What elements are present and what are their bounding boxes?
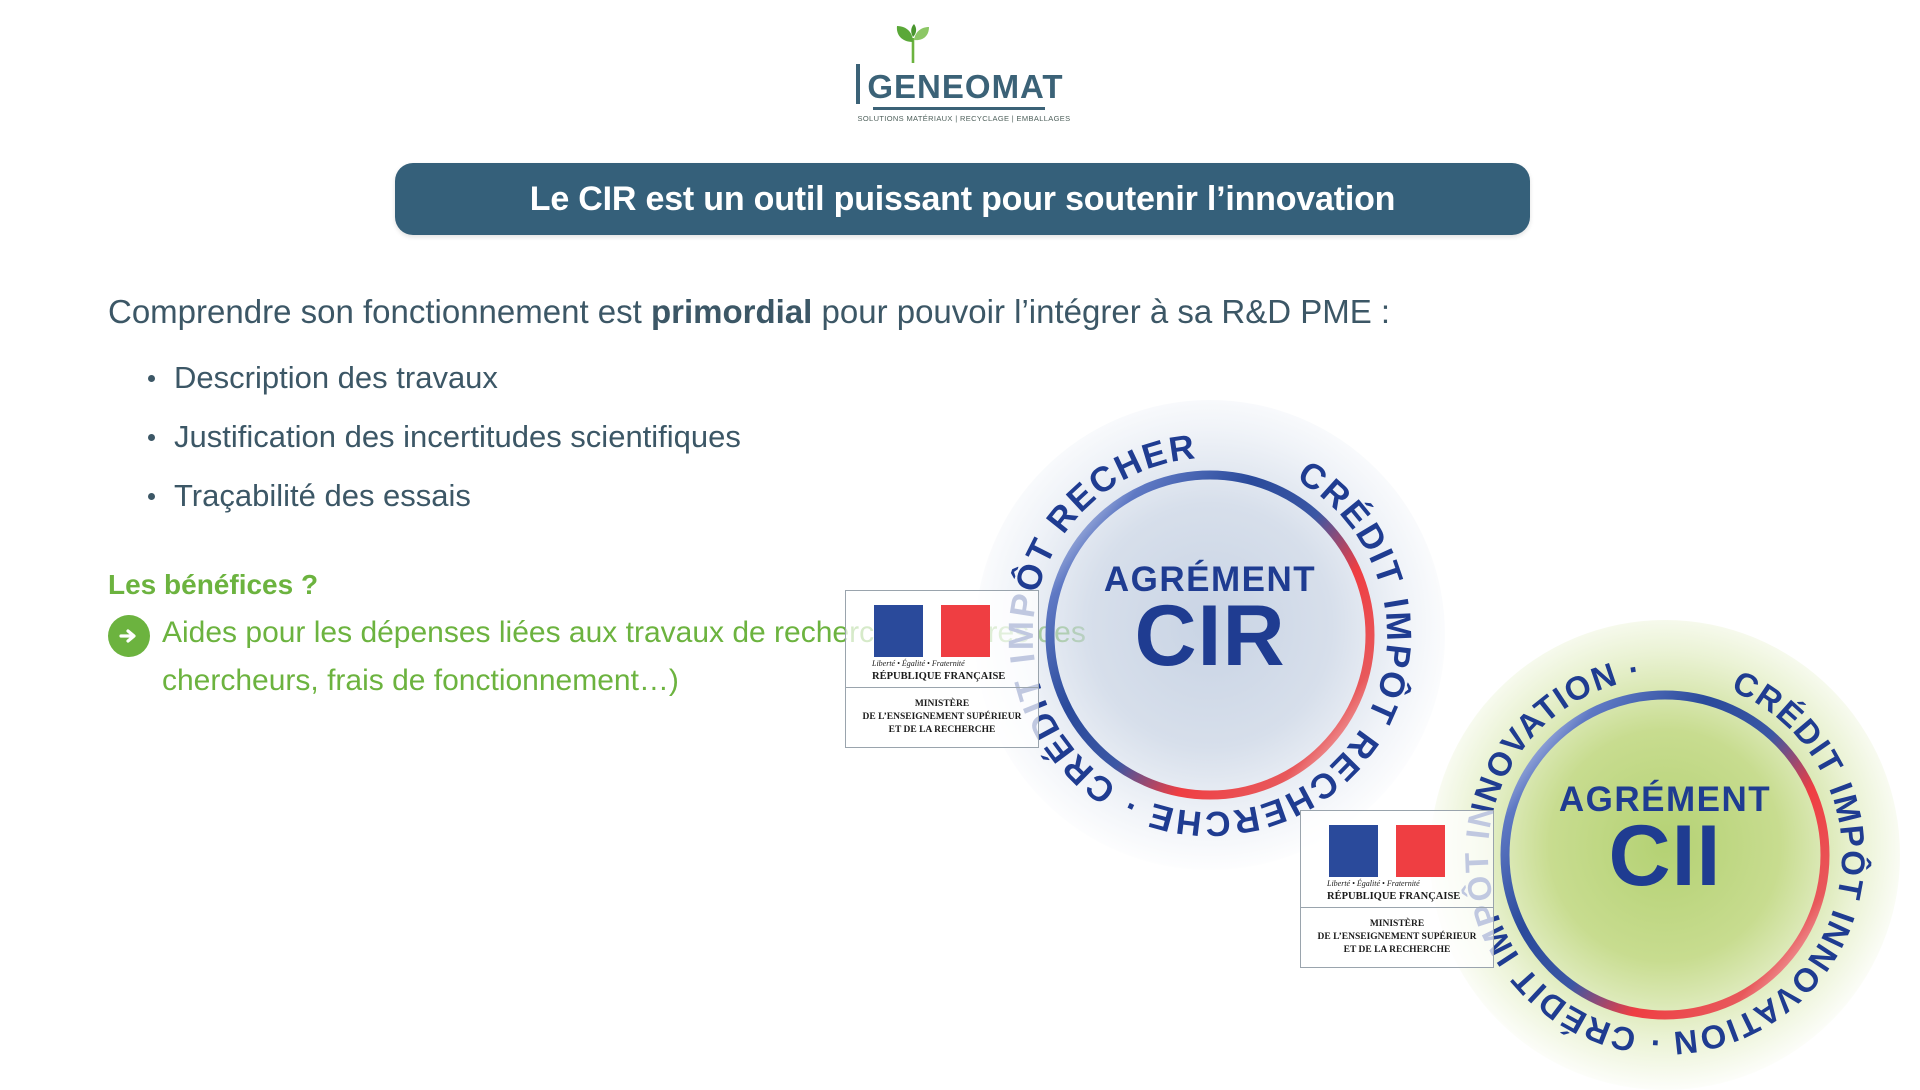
cii-ring: CRÉDIT IMPÔT INNOVATION · CRÉDIT IMPÔT I… (1430, 620, 1900, 1090)
ministry-name: MINISTÈRE DE L’ENSEIGNEMENT SUPÉRIEUR ET… (846, 688, 1038, 747)
svg-text:CRÉDIT IMPÔT RECHERCHE · CRÉDI: CRÉDIT IMPÔT RECHERCHE · CRÉDIT IMPÔT RE… (975, 400, 1418, 843)
list-item: Description des travaux (108, 348, 1168, 407)
leaf-sprout-icon (891, 24, 937, 64)
ministry-republic: RÉPUBLIQUE FRANÇAISE (872, 671, 1005, 682)
ministry-republic: RÉPUBLIQUE FRANÇAISE (1327, 891, 1460, 902)
list-item-label: Traçabilité des essais (174, 478, 471, 513)
brand-wordmark: GENEOMAT (856, 64, 1063, 104)
lead-text-before: Comprendre son fonctionnement est (108, 293, 651, 330)
brand-tagline: SOLUTIONS MATÉRIAUX | RECYCLAGE | EMBALL… (858, 114, 1071, 123)
svg-text:CRÉDIT IMPÔT INNOVATION · CRÉD: CRÉDIT IMPÔT INNOVATION · CRÉDIT IMPÔT I… (1458, 650, 1874, 1062)
agrement-cii-logo: CRÉDIT IMPÔT INNOVATION · CRÉDIT IMPÔT I… (1430, 620, 1900, 1090)
list-item-label: Justification des incertitudes scientifi… (174, 419, 741, 454)
brand-rule (856, 64, 860, 104)
ministry-line-1: MINISTÈRE (1307, 918, 1487, 931)
ministry-emblem: Liberté • Égalité • Fraternité RÉPUBLIQU… (1301, 811, 1493, 908)
ministry-devise: Liberté • Égalité • Fraternité (872, 659, 965, 668)
lead-paragraph: Comprendre son fonctionnement est primor… (108, 292, 1168, 332)
brand-underline (873, 107, 1045, 110)
page-title: Le CIR est un outil puissant pour souten… (530, 180, 1395, 219)
list-item-label: Description des travaux (174, 360, 498, 395)
ministry-line-2: DE L’ENSEIGNEMENT SUPÉRIEUR (852, 711, 1032, 724)
agrement-cir-logo: CRÉDIT IMPÔT RECHERCHE · CRÉDIT IMPÔT RE… (975, 400, 1445, 870)
arrow-right-circle-icon (108, 615, 150, 657)
ministry-name: MINISTÈRE DE L’ENSEIGNEMENT SUPÉRIEUR ET… (1301, 908, 1493, 967)
brand-logo: GENEOMAT SOLUTIONS MATÉRIAUX | RECYCLAGE… (0, 24, 1920, 123)
brand-name: GENEOMAT (867, 70, 1063, 104)
ministry-line-2: DE L’ENSEIGNEMENT SUPÉRIEUR (1307, 931, 1487, 944)
french-flag-icon (1329, 825, 1445, 877)
title-banner: Le CIR est un outil puissant pour souten… (395, 163, 1530, 235)
ministry-emblem: Liberté • Égalité • Fraternité RÉPUBLIQU… (846, 591, 1038, 688)
french-flag-icon (874, 605, 990, 657)
cii-ring-text: CRÉDIT IMPÔT INNOVATION · CRÉDIT IMPÔT I… (1458, 650, 1874, 1062)
ministry-line-1: MINISTÈRE (852, 698, 1032, 711)
cir-ministry-box: Liberté • Égalité • Fraternité RÉPUBLIQU… (845, 590, 1039, 748)
ministry-devise: Liberté • Égalité • Fraternité (1327, 879, 1420, 888)
lead-text-bold: primordial (651, 293, 812, 330)
cir-ring: CRÉDIT IMPÔT RECHERCHE · CRÉDIT IMPÔT RE… (975, 400, 1445, 870)
ministry-line-3: ET DE LA RECHERCHE (852, 724, 1032, 737)
ministry-line-3: ET DE LA RECHERCHE (1307, 944, 1487, 957)
lead-text-after: pour pouvoir l’intégrer à sa R&D PME : (812, 293, 1390, 330)
cir-ring-text: CRÉDIT IMPÔT RECHERCHE · CRÉDIT IMPÔT RE… (975, 400, 1418, 843)
cii-ministry-box: Liberté • Égalité • Fraternité RÉPUBLIQU… (1300, 810, 1494, 968)
